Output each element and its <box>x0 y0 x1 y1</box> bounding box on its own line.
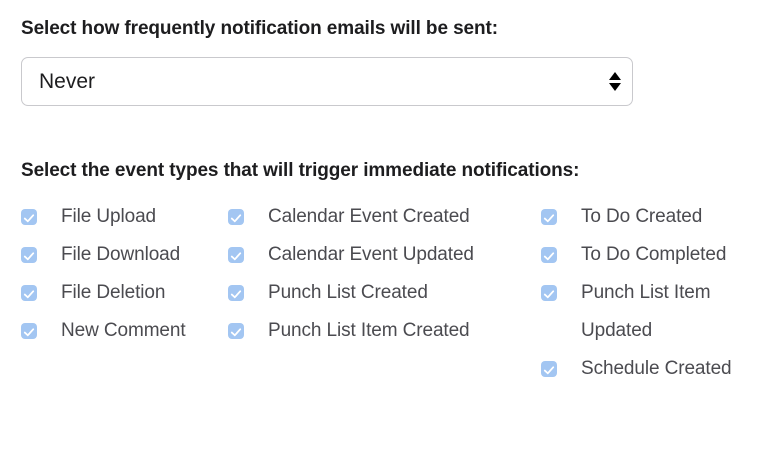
checkbox-icon[interactable] <box>541 209 557 225</box>
frequency-section: Select how frequently notification email… <box>21 18 761 40</box>
frequency-heading: Select how frequently notification email… <box>21 18 761 40</box>
checkbox-label: File Download <box>37 236 180 274</box>
checkbox-icon[interactable] <box>228 209 244 225</box>
triangle-down-icon[interactable] <box>609 83 621 91</box>
checkbox-row[interactable]: File Upload <box>21 198 228 236</box>
checkbox-icon[interactable] <box>21 285 37 301</box>
notification-settings-page: Select how frequently notification email… <box>0 0 780 456</box>
checkbox-row[interactable]: Punch List Created <box>228 274 541 312</box>
checkbox-row[interactable]: To Do Completed <box>541 236 751 274</box>
frequency-select[interactable]: Never <box>21 57 633 106</box>
events-heading: Select the event types that will trigger… <box>21 160 766 182</box>
checkbox-row[interactable]: To Do Created <box>541 198 751 236</box>
checkbox-row[interactable]: File Download <box>21 236 228 274</box>
checkbox-row[interactable]: New Comment <box>21 312 228 350</box>
checkbox-icon[interactable] <box>228 285 244 301</box>
checkbox-icon[interactable] <box>541 247 557 263</box>
checkbox-icon[interactable] <box>541 361 557 377</box>
frequency-stepper[interactable] <box>598 58 632 105</box>
checkbox-row[interactable]: Punch List Item Created <box>228 312 541 350</box>
checkbox-label: Schedule Created <box>557 350 732 388</box>
checkbox-icon[interactable] <box>541 285 557 301</box>
frequency-select-value: Never <box>22 70 598 94</box>
event-column-2: Calendar Event Created Calendar Event Up… <box>228 198 541 350</box>
checkbox-icon[interactable] <box>21 323 37 339</box>
checkbox-icon[interactable] <box>228 323 244 339</box>
checkbox-label: Punch List Item Created <box>244 312 470 350</box>
checkbox-row[interactable]: Punch List Item Updated <box>541 274 751 350</box>
checkbox-icon[interactable] <box>228 247 244 263</box>
event-column-1: File Upload File Download File Deletion … <box>21 198 228 350</box>
checkbox-label: To Do Created <box>557 198 702 236</box>
checkbox-label: Punch List Item Updated <box>557 274 751 350</box>
checkbox-row[interactable]: Calendar Event Created <box>228 198 541 236</box>
checkbox-icon[interactable] <box>21 209 37 225</box>
checkbox-label: Punch List Created <box>244 274 428 312</box>
event-type-columns: File Upload File Download File Deletion … <box>21 198 769 388</box>
events-section: Select the event types that will trigger… <box>21 160 766 182</box>
checkbox-label: File Upload <box>37 198 156 236</box>
checkbox-label: File Deletion <box>37 274 165 312</box>
checkbox-row[interactable]: Schedule Created <box>541 350 751 388</box>
checkbox-row[interactable]: Calendar Event Updated <box>228 236 541 274</box>
checkbox-label: Calendar Event Updated <box>244 236 474 274</box>
checkbox-label: To Do Completed <box>557 236 726 274</box>
triangle-up-icon[interactable] <box>609 72 621 80</box>
checkbox-row[interactable]: File Deletion <box>21 274 228 312</box>
checkbox-label: Calendar Event Created <box>244 198 470 236</box>
checkbox-icon[interactable] <box>21 247 37 263</box>
event-column-3: To Do Created To Do Completed Punch List… <box>541 198 751 388</box>
checkbox-label: New Comment <box>37 312 186 350</box>
